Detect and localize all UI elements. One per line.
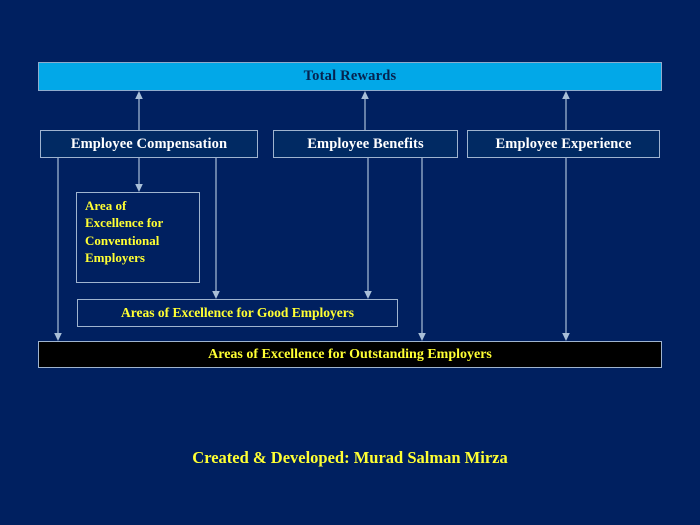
- arrow-benefits-to-total-rewards: [361, 91, 369, 130]
- slide-canvas: Total Rewards Employee Compensation Empl…: [0, 0, 700, 525]
- node-total-rewards[interactable]: Total Rewards: [38, 62, 662, 91]
- node-conventional-text: Area of Excellence for Conventional Empl…: [85, 197, 163, 266]
- conventional-line-4: Employers: [85, 249, 163, 266]
- arrow-benefits-to-outstanding: [418, 158, 426, 341]
- node-area-of-excellence-conventional[interactable]: Area of Excellence for Conventional Empl…: [76, 192, 200, 283]
- arrow-benefits-to-good: [364, 158, 372, 299]
- arrow-experience-to-total-rewards: [562, 91, 570, 130]
- node-employee-experience[interactable]: Employee Experience: [467, 130, 660, 158]
- node-employee-benefits[interactable]: Employee Benefits: [273, 130, 458, 158]
- arrow-experience-to-outstanding: [562, 158, 570, 341]
- credit-line: Created & Developed: Murad Salman Mirza: [0, 448, 700, 468]
- node-areas-of-excellence-good[interactable]: Areas of Excellence for Good Employers: [77, 299, 398, 327]
- arrow-compensation-to-outstanding: [54, 158, 62, 341]
- conventional-line-3: Conventional: [85, 232, 163, 249]
- arrow-compensation-to-conventional: [135, 158, 143, 192]
- node-areas-of-excellence-outstanding[interactable]: Areas of Excellence for Outstanding Empl…: [38, 341, 662, 368]
- arrow-compensation-to-good: [212, 158, 220, 299]
- conventional-line-2: Excellence for: [85, 214, 163, 231]
- arrow-compensation-to-total-rewards: [135, 91, 143, 130]
- conventional-line-1: Area of: [85, 197, 163, 214]
- node-employee-compensation[interactable]: Employee Compensation: [40, 130, 258, 158]
